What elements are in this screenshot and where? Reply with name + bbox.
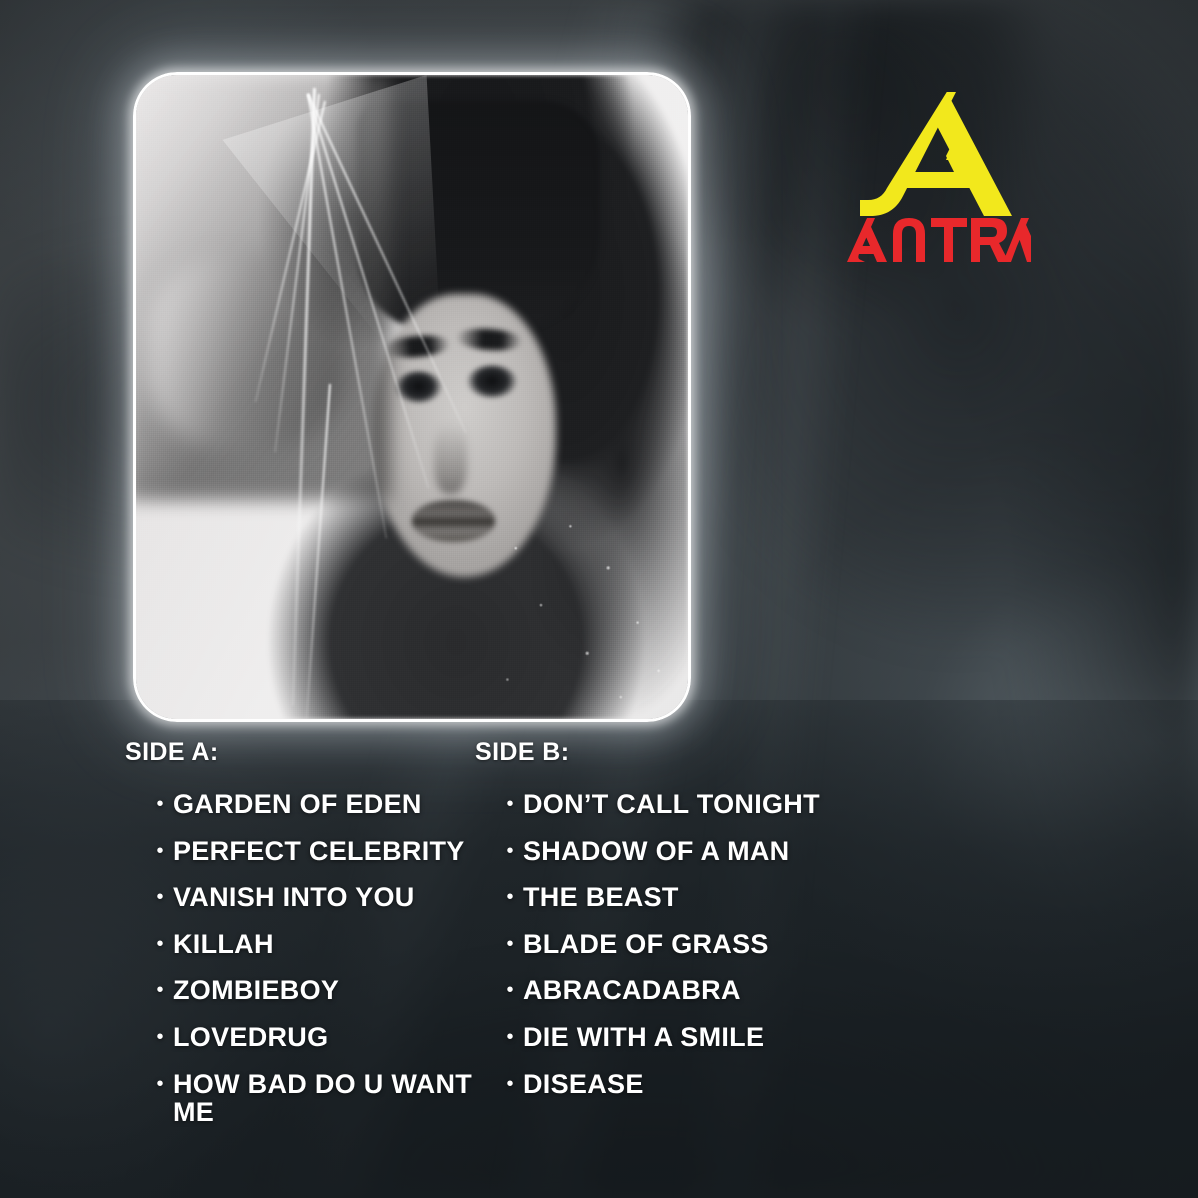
bullet-icon: • xyxy=(147,794,173,814)
bullet-icon: • xyxy=(497,1027,523,1047)
track-item[interactable]: • DIE WITH A SMILE xyxy=(497,1023,1075,1052)
track-item[interactable]: • DON’T CALL TONIGHT xyxy=(497,790,1075,819)
side-a-heading: SIDE A: xyxy=(125,738,475,767)
side-b-track-list: • DON’T CALL TONIGHT • SHADOW OF A MAN •… xyxy=(475,790,1075,1098)
side-a-track-list: • GARDEN OF EDEN • PERFECT CELEBRITY • V… xyxy=(125,790,475,1127)
track-item[interactable]: • ZOMBIEBOY xyxy=(147,976,475,1005)
cover-film-grain xyxy=(136,75,688,719)
track-item[interactable]: • ABRACADABRA xyxy=(497,976,1075,1005)
side-a-column: SIDE A: • GARDEN OF EDEN • PERFECT CELEB… xyxy=(0,738,475,1145)
track-item[interactable]: • THE BEAST xyxy=(497,883,1075,912)
track-item[interactable]: • KILLAH xyxy=(147,930,475,959)
side-b-column: SIDE B: • DON’T CALL TONIGHT • SHADOW OF… xyxy=(475,738,1075,1145)
track-title: SHADOW OF A MAN xyxy=(523,837,789,866)
bullet-icon: • xyxy=(147,887,173,907)
track-item[interactable]: • VANISH INTO YOU xyxy=(147,883,475,912)
bullet-icon: • xyxy=(147,841,173,861)
track-item[interactable]: • SHADOW OF A MAN xyxy=(497,837,1075,866)
track-title: HOW BAD DO U WANT ME xyxy=(173,1070,475,1127)
tracklist: SIDE A: • GARDEN OF EDEN • PERFECT CELEB… xyxy=(0,738,1198,1145)
bullet-icon: • xyxy=(147,934,173,954)
antra-a-logo-icon xyxy=(860,92,1030,220)
side-b-heading: SIDE B: xyxy=(475,738,1075,767)
bullet-icon: • xyxy=(147,1027,173,1047)
bullet-icon: • xyxy=(497,980,523,1000)
album-cover-artwork xyxy=(133,72,691,722)
bullet-icon: • xyxy=(497,841,523,861)
track-title: VANISH INTO YOU xyxy=(173,883,415,912)
track-title: DIE WITH A SMILE xyxy=(523,1023,764,1052)
bullet-icon: • xyxy=(497,887,523,907)
track-title: DISEASE xyxy=(523,1070,644,1099)
album-cover-photo xyxy=(136,75,688,719)
brand-wordmark xyxy=(845,216,1031,264)
track-item[interactable]: • BLADE OF GRASS xyxy=(497,930,1075,959)
track-title: KILLAH xyxy=(173,930,274,959)
track-item[interactable]: • DISEASE xyxy=(497,1070,1075,1099)
track-item[interactable]: • PERFECT CELEBRITY xyxy=(147,837,475,866)
track-title: DON’T CALL TONIGHT xyxy=(523,790,820,819)
bullet-icon: • xyxy=(497,934,523,954)
track-title: THE BEAST xyxy=(523,883,679,912)
bullet-icon: • xyxy=(497,794,523,814)
track-item[interactable]: • HOW BAD DO U WANT ME xyxy=(147,1070,475,1127)
track-title: GARDEN OF EDEN xyxy=(173,790,422,819)
track-title: ZOMBIEBOY xyxy=(173,976,339,1005)
track-title: ABRACADABRA xyxy=(523,976,741,1005)
brand-logo xyxy=(845,92,1045,282)
track-title: PERFECT CELEBRITY xyxy=(173,837,465,866)
track-item[interactable]: • GARDEN OF EDEN xyxy=(147,790,475,819)
track-title: LOVEDRUG xyxy=(173,1023,328,1052)
album-tracklist-poster: SIDE A: • GARDEN OF EDEN • PERFECT CELEB… xyxy=(0,0,1198,1198)
bullet-icon: • xyxy=(497,1074,523,1094)
track-title: BLADE OF GRASS xyxy=(523,930,769,959)
track-item[interactable]: • LOVEDRUG xyxy=(147,1023,475,1052)
bullet-icon: • xyxy=(147,1074,173,1094)
bullet-icon: • xyxy=(147,980,173,1000)
